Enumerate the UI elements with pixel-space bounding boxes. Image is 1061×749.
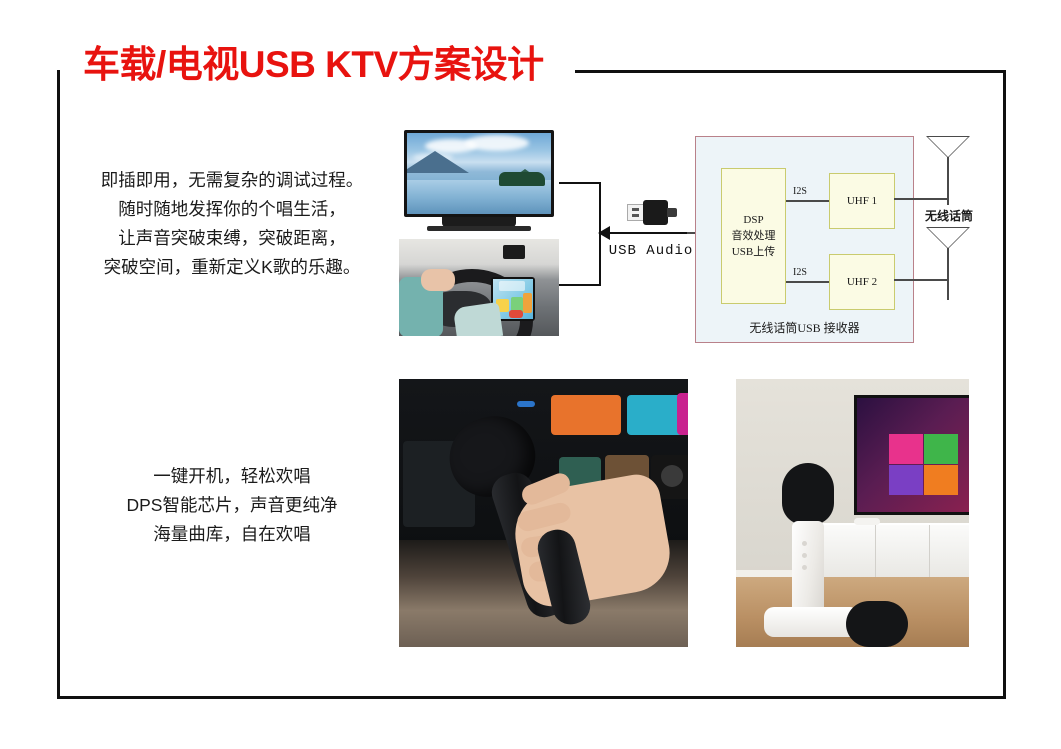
usb-plug-metal-tip xyxy=(627,204,644,221)
antenna-triangle xyxy=(926,136,970,158)
mic-button xyxy=(802,541,807,546)
usb-audio-line xyxy=(601,232,701,234)
receiver-block-diagram: DSP 音效处理 USB上传 UHF 1 UHF 2 I2S I2S 无线话筒U… xyxy=(695,136,914,343)
dsp-line-3: USB上传 xyxy=(732,244,775,260)
driver-hand xyxy=(421,269,455,291)
tv-screen xyxy=(407,133,551,214)
i2s-wire-1 xyxy=(786,200,829,202)
car-to-usb-line xyxy=(559,284,601,286)
usb-plug-tail xyxy=(667,208,677,217)
usb-plug-body xyxy=(643,200,668,225)
page-title: 车载/电视USB KTV方案设计 xyxy=(83,46,544,83)
mic-button xyxy=(802,553,807,558)
antenna-stem xyxy=(947,248,949,300)
feature-copy-lower: 一键开机，轻松欢唱 DPS智能芯片，声音更纯净 海量曲库，自在欢唱 xyxy=(82,462,382,549)
uhf2-block: UHF 2 xyxy=(829,254,895,310)
microphone-foam-head-standing xyxy=(782,463,834,525)
media-tile xyxy=(517,401,535,407)
driver-arm xyxy=(453,302,503,336)
mic-button xyxy=(802,565,807,570)
copy-line: 让声音突破束缚，突破距离， xyxy=(82,224,382,253)
copy-line: 随时随地发挥你的个唱生活， xyxy=(82,195,382,224)
app-tile xyxy=(889,465,923,495)
app-tile xyxy=(924,465,958,495)
app-tile xyxy=(499,281,525,291)
antenna-2-icon xyxy=(926,227,970,249)
antenna-1-icon xyxy=(926,136,970,158)
app-tile xyxy=(924,434,958,464)
dashcam-shape xyxy=(503,245,525,259)
tv-to-usb-line xyxy=(559,182,601,184)
antenna-label: 无线话筒 xyxy=(925,207,973,224)
microphone-in-car-photo xyxy=(399,379,688,647)
frame-border-left xyxy=(57,70,60,699)
title-underline-rule xyxy=(575,70,1006,73)
wall-mounted-tv xyxy=(854,395,969,515)
copy-line: 即插即用，无需复杂的调试过程。 xyxy=(82,166,382,195)
cloud-shape xyxy=(465,135,529,151)
i2s-label-1: I2S xyxy=(793,186,807,197)
antenna-triangle xyxy=(926,227,970,249)
home-microphone-photo xyxy=(736,379,969,647)
media-tile xyxy=(661,465,683,487)
remote-control xyxy=(854,518,880,525)
dsp-block: DSP 音效处理 USB上传 xyxy=(721,168,786,304)
dsp-line-1: DSP xyxy=(743,212,763,228)
frame-border-bottom xyxy=(57,696,1006,699)
feature-copy-upper: 即插即用，无需复杂的调试过程。 随时随地发挥你的个唱生活， 让声音突破束缚，突破… xyxy=(82,166,382,282)
i2s-label-2: I2S xyxy=(793,267,807,278)
cabinet-divider xyxy=(929,525,930,577)
uhf1-label: UHF 1 xyxy=(847,193,877,209)
copy-line: 海量曲库，自在欢唱 xyxy=(82,520,382,549)
uhf2-to-antenna-wire xyxy=(894,279,948,281)
car-to-usb-vertical xyxy=(599,232,601,286)
slide-canvas: 车载/电视USB KTV方案设计 即插即用，无需复杂的调试过程。 随时随地发挥你… xyxy=(0,0,1061,749)
arrow-left-icon xyxy=(598,226,610,240)
dsp-line-2: 音效处理 xyxy=(732,228,776,244)
car-interior-photo xyxy=(399,239,559,336)
app-tile xyxy=(523,293,532,313)
uhf1-block: UHF 1 xyxy=(829,173,895,229)
uhf1-to-antenna-wire xyxy=(894,198,948,200)
media-tile xyxy=(551,395,621,435)
uhf2-label: UHF 2 xyxy=(847,274,877,290)
app-tile xyxy=(509,310,523,318)
copy-line: 一键开机，轻松欢唱 xyxy=(82,462,382,491)
media-tile xyxy=(677,393,688,435)
microphone-body-standing xyxy=(792,521,824,619)
app-tile xyxy=(889,434,923,464)
tree-line-shape xyxy=(499,172,545,186)
tv-cabinet xyxy=(822,523,969,577)
mountain-shape xyxy=(407,151,469,173)
i2s-wire-2 xyxy=(786,281,829,283)
microphone-foam-head-lying xyxy=(846,601,908,647)
diagram-caption: 无线话筒USB 接收器 xyxy=(696,319,913,336)
copy-line: DPS智能芯片，声音更纯净 xyxy=(82,491,382,520)
frame-border-right xyxy=(1003,70,1006,699)
flat-screen-tv-photo xyxy=(399,127,559,235)
usb-audio-label: USB Audio xyxy=(601,243,701,259)
tv-stand-foot xyxy=(427,226,531,231)
copy-line: 突破空间，重新定义K歌的乐趣。 xyxy=(82,253,382,282)
cabinet-divider xyxy=(875,525,876,577)
